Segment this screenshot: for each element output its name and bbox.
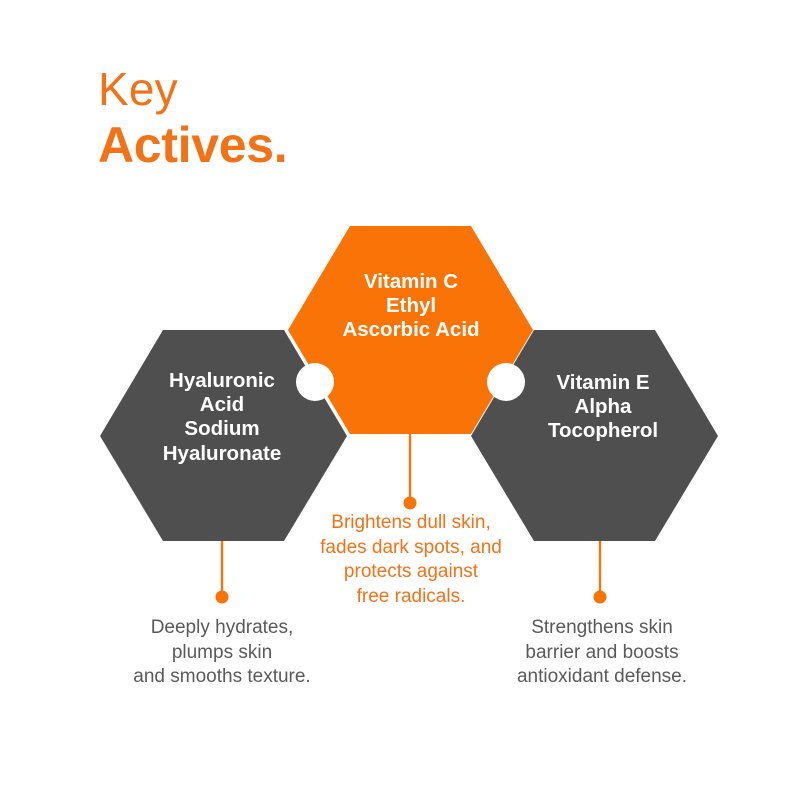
connector-center-dot (404, 497, 417, 510)
caption-line: plumps skin (102, 641, 342, 666)
connector-right (594, 541, 607, 604)
connector-center (404, 434, 417, 510)
caption-line: barrier and boosts (482, 641, 722, 666)
key-actives-infographic: Key Actives. Hyaluronic Acid (0, 0, 800, 800)
joint-left-icon (296, 363, 334, 401)
caption-line: Brightens dull skin, (298, 511, 524, 536)
caption-vitamin-c: Brightens dull skin, fades dark spots, a… (298, 511, 524, 610)
connector-left-dot (216, 591, 229, 604)
caption-line: and smooths texture. (102, 665, 342, 690)
caption-vitamin-e: Strengthens skin barrier and boosts anti… (482, 616, 722, 690)
caption-line: Deeply hydrates, (102, 616, 342, 641)
caption-line: protects against (298, 560, 524, 585)
connector-right-dot (594, 591, 607, 604)
connector-left (216, 541, 229, 604)
caption-line: free radicals. (298, 585, 524, 610)
joint-right-icon (487, 363, 525, 401)
caption-line: fades dark spots, and (298, 536, 524, 561)
caption-hyaluronic-acid: Deeply hydrates, plumps skin and smooths… (102, 616, 342, 690)
caption-line: Strengthens skin (482, 616, 722, 641)
caption-line: antioxidant defense. (482, 665, 722, 690)
